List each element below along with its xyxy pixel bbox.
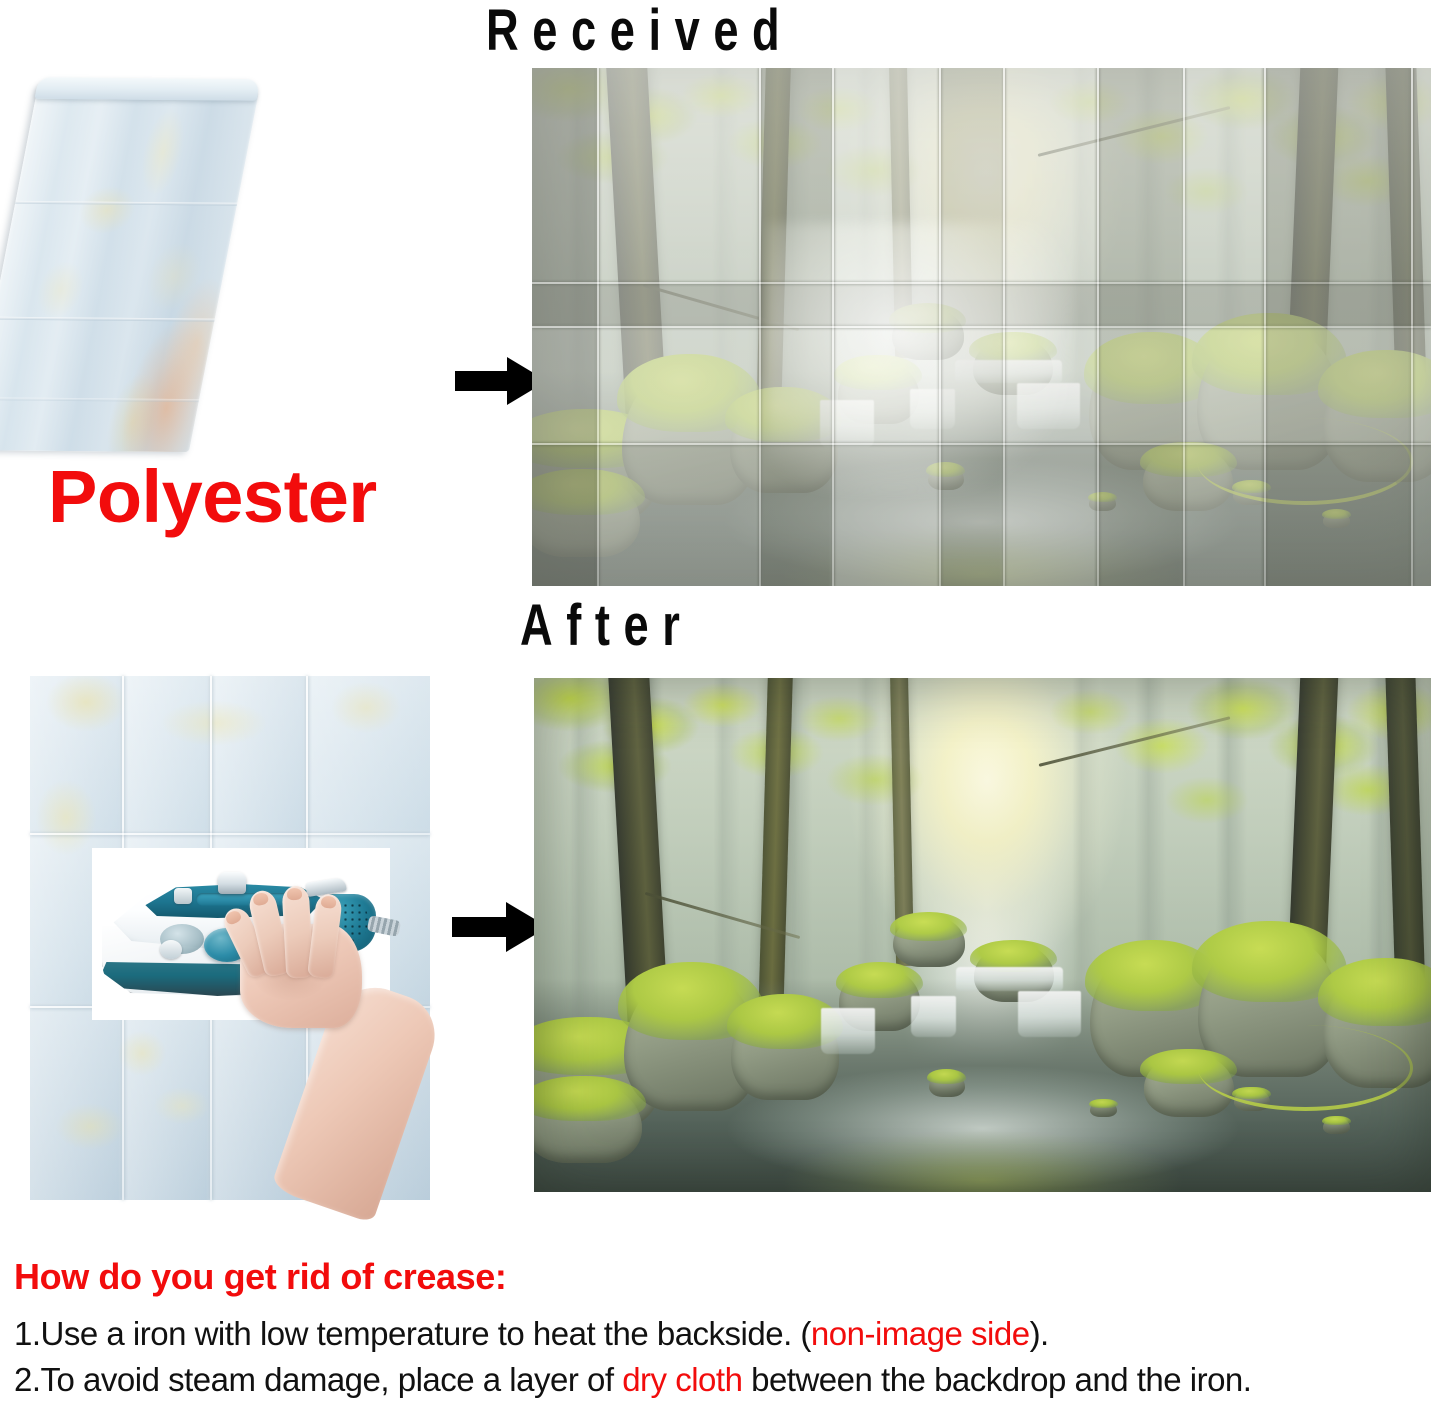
crease-line-horizontal xyxy=(532,326,1431,328)
crease-line-horizontal xyxy=(30,833,430,835)
folded-fabric-swatch xyxy=(0,85,260,452)
instruction-step-1: 1.Use a iron with low temperature to hea… xyxy=(14,1313,1424,1355)
fabric-crease xyxy=(15,201,237,206)
step-1-prefix: 1.Use a iron with low temperature to hea… xyxy=(14,1315,811,1352)
fingernail xyxy=(320,895,336,909)
crease-sheen xyxy=(766,223,1072,492)
fabric-roll-lip xyxy=(34,77,260,101)
hand-icon xyxy=(240,924,450,1200)
crease-line-horizontal xyxy=(532,443,1431,445)
image-vignette xyxy=(534,678,1431,1192)
after-heading: After xyxy=(520,597,693,655)
iron-burst-button xyxy=(174,888,192,904)
polyester-swatch-figure xyxy=(10,78,430,488)
received-backdrop-image xyxy=(532,68,1431,586)
polyester-label: Polyester xyxy=(48,460,377,534)
after-backdrop-image xyxy=(534,678,1431,1192)
ironing-figure xyxy=(30,676,430,1200)
step-2-highlight: dry cloth xyxy=(622,1361,742,1398)
instruction-step-2: 2.To avoid steam damage, place a layer o… xyxy=(14,1359,1424,1401)
step-1-suffix: ). xyxy=(1030,1315,1049,1352)
fingernail xyxy=(224,909,243,926)
iron-knob xyxy=(218,872,246,894)
crease-line-horizontal xyxy=(532,282,1431,284)
fingernail xyxy=(252,892,269,907)
step-2-prefix: 2.To avoid steam damage, place a layer o… xyxy=(14,1361,622,1398)
fabric-crease xyxy=(0,317,215,322)
received-heading: Received xyxy=(486,2,793,60)
step-2-suffix: between the backdrop and the iron. xyxy=(742,1361,1251,1398)
infographic-page: Received Polyester xyxy=(0,0,1436,1402)
step-1-highlight: non-image side xyxy=(811,1315,1030,1352)
instructions-heading: How do you get rid of crease: xyxy=(14,1258,1424,1297)
fabric-crease xyxy=(0,397,199,402)
instructions-block: How do you get rid of crease: 1.Use a ir… xyxy=(14,1258,1424,1401)
iron-spray-button xyxy=(160,940,182,959)
fingernail xyxy=(287,888,303,901)
